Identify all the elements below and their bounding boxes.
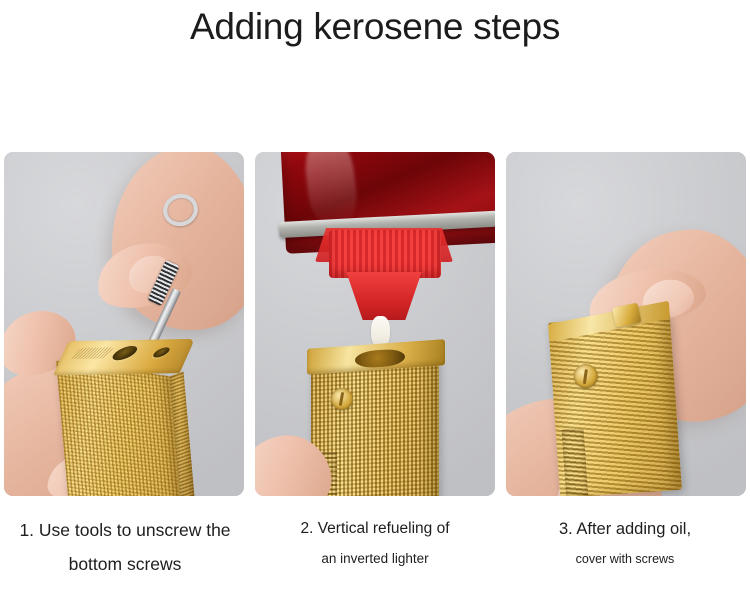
screw-hole-secondary <box>150 347 172 358</box>
caption-step-3-line-1: 3. After adding oil, <box>500 520 750 539</box>
lighter-front-face <box>56 360 182 496</box>
step-captions: 1. Use tools to unscrew the bottom screw… <box>0 520 750 591</box>
gold-lighter <box>50 339 191 496</box>
nozzle-ribbed-collar <box>329 230 441 278</box>
step-photo-strip <box>0 152 750 496</box>
step-1-photo <box>4 152 244 496</box>
caption-step-1: 1. Use tools to unscrew the bottom screw… <box>0 520 250 591</box>
caption-step-2-line-1: 2. Vertical refueling of <box>250 520 500 538</box>
caption-step-1-line-2: bottom screws <box>0 554 250 575</box>
caption-step-3-line-2: cover with screws <box>500 552 750 566</box>
lighter-bottom-plate <box>53 339 194 375</box>
caption-step-3: 3. After adding oil, cover with screws <box>500 520 750 591</box>
lighter-engraving <box>70 347 114 359</box>
gold-lighter <box>548 314 686 496</box>
step-3-photo <box>506 152 746 496</box>
caption-step-2: 2. Vertical refueling of an inverted lig… <box>250 520 500 591</box>
page-title: Adding kerosene steps <box>0 4 750 50</box>
step-2-photo <box>255 152 495 496</box>
caption-step-2-line-2: an inverted lighter <box>250 551 500 566</box>
caption-step-1-line-1: 1. Use tools to unscrew the <box>0 520 250 541</box>
lighter-seam <box>562 428 589 496</box>
lighter-logo-badge <box>331 388 353 410</box>
